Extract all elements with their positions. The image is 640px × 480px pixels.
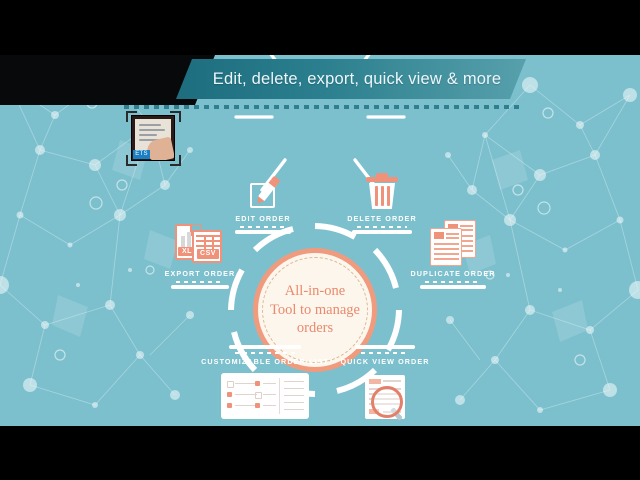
banner-dotted-rule xyxy=(124,105,524,109)
node-bar-duplicate-order xyxy=(420,285,486,289)
title-banner: Edit, delete, export, quick view & more xyxy=(176,59,526,99)
video-content-area: All-in-one Tool to manage orders EDIT OR… xyxy=(0,55,640,426)
hub-line-3: orders xyxy=(297,320,333,336)
trash-can-icon xyxy=(364,173,400,211)
node-label-customizable-list: CUSTOMIZABLE ORDER LIST xyxy=(200,357,330,366)
node-bar-export-order xyxy=(171,285,229,289)
node-label-export-order: EXPORT ORDER xyxy=(148,269,252,278)
node-dash-duplicate-order xyxy=(425,281,481,283)
magnifier-document-icon xyxy=(361,373,409,423)
node-dash-quick-view xyxy=(361,352,409,354)
hub-line-2: Tool to manage xyxy=(270,302,360,318)
thumbnail-badge: ETS xyxy=(133,150,150,159)
node-bar-customizable-list xyxy=(229,345,301,349)
list-panel-icon xyxy=(221,373,309,419)
export-tag-csv: CSV xyxy=(197,249,219,259)
channel-thumbnail[interactable]: ETS xyxy=(131,115,175,161)
title-banner-region: Edit, delete, export, quick view & more xyxy=(0,55,640,107)
hub-line-1: All-in-one xyxy=(285,283,345,299)
node-duplicate-order[interactable]: DUPLICATE ORDER xyxy=(398,220,508,289)
pencil-square-icon xyxy=(246,173,280,211)
node-label-duplicate-order: DUPLICATE ORDER xyxy=(398,269,508,278)
export-files-icon: XL CSV xyxy=(175,220,225,266)
node-export-order[interactable]: XL CSV EXPORT ORDER xyxy=(148,220,252,289)
node-quick-view-order[interactable]: QUICK VIEW ORDER xyxy=(330,343,440,423)
node-customizable-order-list[interactable]: CUSTOMIZABLE ORDER LIST xyxy=(200,343,330,419)
node-dash-customizable-list xyxy=(235,352,295,354)
node-label-quick-view-order: QUICK VIEW ORDER xyxy=(330,357,440,366)
node-dash-export-order xyxy=(176,281,224,283)
stacked-documents-icon xyxy=(428,220,478,266)
banner-title-text: Edit, delete, export, quick view & more xyxy=(213,70,501,89)
video-player-stage: All-in-one Tool to manage orders EDIT OR… xyxy=(0,0,640,480)
node-bar-quick-view xyxy=(355,345,415,349)
